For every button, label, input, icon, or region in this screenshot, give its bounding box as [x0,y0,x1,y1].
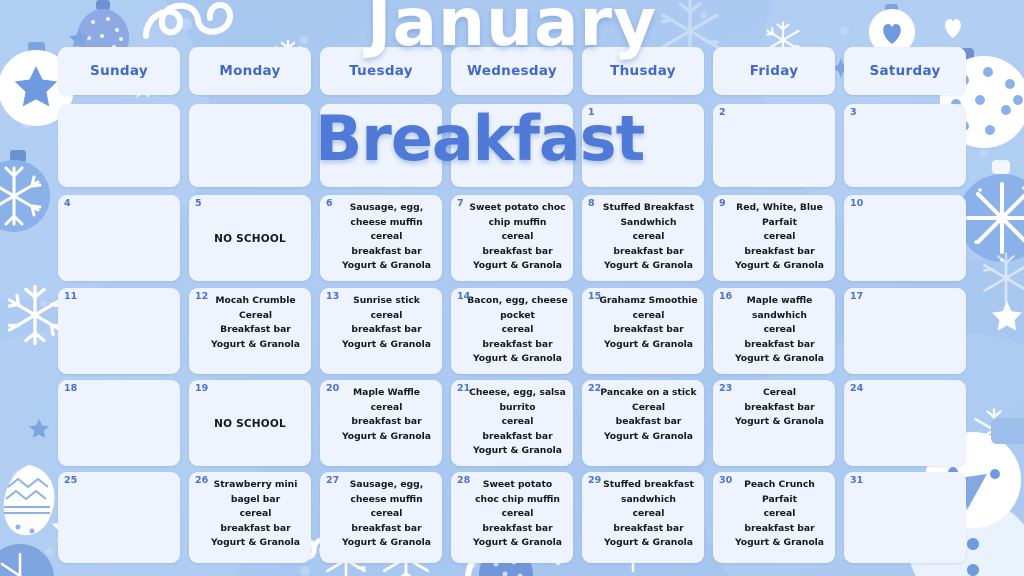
menu-line: Yogurt & Granola [205,338,306,353]
menu-line: cereal [598,230,699,245]
day-number: 7 [457,198,464,209]
day-cell-6[interactable]: 6Sausage, egg,cheese muffincerealbreakfa… [320,195,442,281]
menu-line: Yogurt & Granola [729,415,830,430]
menu-text: Cerealbreakfast barYogurt & Granola [729,383,830,430]
menu-line: Grahamz Smoothie [598,294,699,309]
menu-line: cereal [336,230,437,245]
menu-line: breakfast bar [336,522,437,537]
menu-line: cereal [729,230,830,245]
day-number: 2 [719,107,726,118]
menu-line: Yogurt & Granola [467,259,568,274]
day-number: 21 [457,383,470,394]
day-number: 26 [195,475,208,486]
menu-line: Red, White, Blue [729,201,830,216]
day-number: 13 [326,291,339,302]
weekday-header-monday: Monday [189,47,311,95]
menu-line: Yogurt & Granola [598,259,699,274]
menu-line: Yogurt & Granola [598,338,699,353]
menu-text: Peach CrunchParfaitcerealbreakfast barYo… [729,475,830,551]
menu-line: Yogurt & Granola [729,352,830,367]
day-cell-23[interactable]: 23Cerealbreakfast barYogurt & Granola [713,380,835,466]
menu-line: Sweet potato [467,478,568,493]
menu-line: breakfast bar [467,245,568,260]
menu-line: Stuffed Breakfast [598,201,699,216]
menu-line: breakfast bar [729,401,830,416]
menu-text: Maple wafflesandwhichcerealbreakfast bar… [729,291,830,367]
weekday-label: Thusday [610,63,676,79]
menu-line: Cheese, egg, salsa [467,386,568,401]
day-cell-26[interactable]: 26Strawberry minibagel barcerealbreakfas… [189,472,311,563]
weekday-header-saturday: Saturday [844,47,966,95]
day-number: 29 [588,475,601,486]
menu-line: Yogurt & Granola [205,536,306,551]
menu-line: Parfait [729,493,830,508]
menu-line: cereal [598,309,699,324]
menu-line: cheese muffin [336,216,437,231]
day-number: 16 [719,291,732,302]
day-cell-5[interactable]: 5NO SCHOOL [189,195,311,281]
menu-line: cereal [729,507,830,522]
weekday-label: Monday [219,63,280,79]
calendar-page: Sunday Monday Tuesday Wednesday Thusday … [0,0,1024,576]
menu-line: Sausage, egg, [336,201,437,216]
menu-line: chip muffin [467,216,568,231]
day-cell-13[interactable]: 13Sunrise stickcerealbreakfast barYogurt… [320,288,442,374]
menu-text: Stuffed breakfastsandwhichcerealbreakfas… [598,475,699,551]
weekday-header-friday: Friday [713,47,835,95]
week-row: 123 [58,104,966,187]
day-number: 6 [326,198,333,209]
menu-text: Pancake on a stickCerealbeakfast barYogu… [598,383,699,444]
menu-line: cereal [598,507,699,522]
day-cell-18[interactable]: 18 [58,380,180,466]
menu-line: Cereal [205,309,306,324]
day-cell-11[interactable]: 11 [58,288,180,374]
day-number: 11 [64,291,77,302]
menu-text: Red, White, BlueParfaitcerealbreakfast b… [729,198,830,274]
menu-line: Maple waffle [729,294,830,309]
menu-line: beakfast bar [598,415,699,430]
day-cell-8[interactable]: 8Stuffed BreakfastSandwhichcerealbreakfa… [582,195,704,281]
day-cell-19[interactable]: 19NO SCHOOL [189,380,311,466]
menu-line: breakfast bar [336,323,437,338]
day-number: 8 [588,198,595,209]
weekday-label: Wednesday [467,63,557,79]
menu-line: cereal [205,507,306,522]
menu-line: Yogurt & Granola [467,444,568,459]
weekday-header-wednesday: Wednesday [451,47,573,95]
day-number: 9 [719,198,726,209]
day-cell-30[interactable]: 30Peach CrunchParfaitcerealbreakfast bar… [713,472,835,563]
weekday-label: Saturday [869,63,940,79]
day-cell-2[interactable]: 2 [713,104,835,187]
day-number: 5 [195,198,202,209]
menu-line: Parfait [729,216,830,231]
menu-line: Mocah Crumble [205,294,306,309]
day-number: 31 [850,475,863,486]
menu-line: Peach Crunch [729,478,830,493]
menu-line: breakfast bar [336,415,437,430]
day-number: 15 [588,291,601,302]
menu-line: Cereal [729,386,830,401]
menu-line: Cereal [598,401,699,416]
day-cell-16[interactable]: 16Maple wafflesandwhichcerealbreakfast b… [713,288,835,374]
menu-text: Grahamz Smoothiecerealbreakfast barYogur… [598,291,699,352]
menu-text: Sunrise stickcerealbreakfast barYogurt &… [336,291,437,352]
menu-text: Maple Wafflecerealbreakfast barYogurt & … [336,383,437,444]
day-cell-empty[interactable] [320,104,442,187]
menu-line: Yogurt & Granola [598,536,699,551]
menu-text: Sausage, egg,cheese muffincerealbreakfas… [336,198,437,274]
day-cell-25[interactable]: 25 [58,472,180,563]
no-school-note: NO SCHOOL [192,198,308,279]
day-number: 12 [195,291,208,302]
day-cell-14[interactable]: 14Bacon, egg, cheesepocketcerealbreakfas… [451,288,573,374]
calendar-grid: Sunday Monday Tuesday Wednesday Thusday … [58,47,966,563]
menu-text: Sweet potato chocchip muffincerealbreakf… [467,198,568,274]
menu-text: Mocah CrumbleCerealBreakfast barYogurt &… [205,291,306,352]
menu-text: Stuffed BreakfastSandwhichcerealbreakfas… [598,198,699,274]
day-number: 14 [457,291,470,302]
day-number: 23 [719,383,732,394]
menu-line: Sandwhich [598,216,699,231]
menu-line: Yogurt & Granola [336,338,437,353]
day-number: 30 [719,475,732,486]
week-row: 2526Strawberry minibagel barcerealbreakf… [58,472,966,563]
menu-line: breakfast bar [467,430,568,445]
menu-text: Strawberry minibagel barcerealbreakfast … [205,475,306,551]
day-cell-28[interactable]: 28Sweet potatochoc chip muffincerealbrea… [451,472,573,563]
day-cell-7[interactable]: 7Sweet potato chocchip muffincerealbreak… [451,195,573,281]
menu-line: breakfast bar [729,522,830,537]
weekday-label: Tuesday [349,63,413,79]
menu-line: cereal [336,309,437,324]
day-cell-1[interactable]: 1 [582,104,704,187]
day-cell-15[interactable]: 15Grahamz Smoothiecerealbreakfast barYog… [582,288,704,374]
week-row: 1112Mocah CrumbleCerealBreakfast barYogu… [58,288,966,374]
menu-line: breakfast bar [598,323,699,338]
day-number: 4 [64,198,71,209]
day-cell-empty[interactable] [451,104,573,187]
day-cell-17[interactable]: 17 [844,288,966,374]
menu-line: sandwhich [598,493,699,508]
day-cell-27[interactable]: 27Sausage, egg,cheese muffincerealbreakf… [320,472,442,563]
menu-line: Breakfast bar [205,323,306,338]
menu-line: breakfast bar [467,522,568,537]
menu-line: Sweet potato choc [467,201,568,216]
menu-line: burrito [467,401,568,416]
menu-line: Yogurt & Granola [729,536,830,551]
menu-line: cereal [467,507,568,522]
menu-line: breakfast bar [598,245,699,260]
menu-line: bagel bar [205,493,306,508]
day-number: 18 [64,383,77,394]
menu-line: breakfast bar [205,522,306,537]
menu-line: Yogurt & Granola [729,259,830,274]
menu-line: breakfast bar [336,245,437,260]
day-cell-12[interactable]: 12Mocah CrumbleCerealBreakfast barYogurt… [189,288,311,374]
day-number: 19 [195,383,208,394]
day-cell-empty[interactable] [58,104,180,187]
day-number: 22 [588,383,601,394]
menu-line: breakfast bar [598,522,699,537]
menu-text: Sweet potatochoc chip muffincerealbreakf… [467,475,568,551]
menu-text: Cheese, egg, salsaburritocerealbreakfast… [467,383,568,459]
day-number: 24 [850,383,863,394]
menu-line: Maple Waffle [336,386,437,401]
day-cell-31[interactable]: 31 [844,472,966,563]
menu-line: Yogurt & Granola [467,536,568,551]
day-cell-29[interactable]: 29Stuffed breakfastsandwhichcerealbreakf… [582,472,704,563]
day-number: 20 [326,383,339,394]
day-number: 28 [457,475,470,486]
weekday-header-thursday: Thusday [582,47,704,95]
menu-line: breakfast bar [729,245,830,260]
no-school-note: NO SCHOOL [192,383,308,464]
day-number: 17 [850,291,863,302]
menu-line: Sausage, egg, [336,478,437,493]
menu-line: cereal [467,323,568,338]
day-cell-21[interactable]: 21Cheese, egg, salsaburritocerealbreakfa… [451,380,573,466]
day-cell-3[interactable]: 3 [844,104,966,187]
menu-line: breakfast bar [729,338,830,353]
menu-line: cereal [467,230,568,245]
day-cell-24[interactable]: 24 [844,380,966,466]
day-number: 10 [850,198,863,209]
menu-line: cereal [467,415,568,430]
menu-text: Bacon, egg, cheesepocketcerealbreakfast … [467,291,568,367]
day-number: 3 [850,107,857,118]
menu-line: cheese muffin [336,493,437,508]
menu-line: pocket [467,309,568,324]
day-cell-22[interactable]: 22Pancake on a stickCerealbeakfast barYo… [582,380,704,466]
day-number: 25 [64,475,77,486]
day-cell-4[interactable]: 4 [58,195,180,281]
week-row: 45NO SCHOOL6Sausage, egg,cheese muffince… [58,195,966,281]
menu-line: Yogurt & Granola [467,352,568,367]
weekday-label: Sunday [90,63,148,79]
day-number: 27 [326,475,339,486]
small-white-star-icon [990,300,1024,334]
menu-line: cereal [729,323,830,338]
menu-line: Stuffed breakfast [598,478,699,493]
menu-line: Pancake on a stick [598,386,699,401]
weekday-label: Friday [750,63,799,79]
menu-line: choc chip muffin [467,493,568,508]
menu-line: breakfast bar [467,338,568,353]
menu-line: sandwhich [729,309,830,324]
menu-line: Yogurt & Granola [336,259,437,274]
menu-line: Sunrise stick [336,294,437,309]
menu-line: cereal [336,401,437,416]
weekday-header-row: Sunday Monday Tuesday Wednesday Thusday … [58,47,966,95]
menu-line: Bacon, egg, cheese [467,294,568,309]
day-cell-20[interactable]: 20Maple Wafflecerealbreakfast barYogurt … [320,380,442,466]
day-number: 1 [588,107,595,118]
weekday-header-tuesday: Tuesday [320,47,442,95]
day-cell-empty[interactable] [189,104,311,187]
day-cell-10[interactable]: 10 [844,195,966,281]
day-cell-9[interactable]: 9Red, White, BlueParfaitcerealbreakfast … [713,195,835,281]
menu-text: Sausage, egg,cheese muffincerealbreakfas… [336,475,437,551]
menu-line: Yogurt & Granola [336,536,437,551]
menu-line: Yogurt & Granola [336,430,437,445]
week-row: 1819NO SCHOOL20Maple Wafflecerealbreakfa… [58,380,966,466]
menu-line: Strawberry mini [205,478,306,493]
weekday-header-sunday: Sunday [58,47,180,95]
menu-line: Yogurt & Granola [598,430,699,445]
menu-line: cereal [336,507,437,522]
